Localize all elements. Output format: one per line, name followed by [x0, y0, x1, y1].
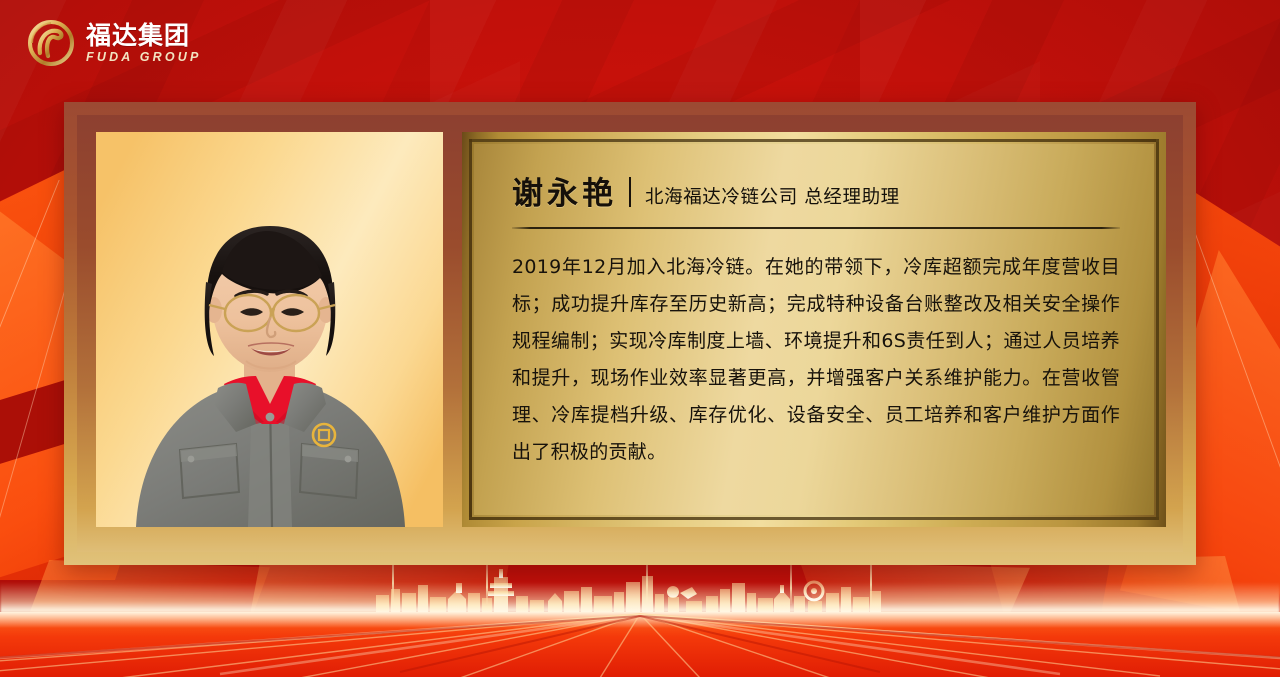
bio-card-body: 谢永艳 北海福达冷链公司 总经理助理 2019年12月加入北海冷链。在她的带领下… — [474, 144, 1154, 515]
brand-logo: 福达集团 FUDA GROUP — [26, 18, 202, 68]
person-name: 谢永艳 — [512, 177, 617, 211]
brand-name-en: FUDA GROUP — [86, 51, 202, 64]
person-bio: 2019年12月加入北海冷链。在她的带领下，冷库超额完成年度营收目标；成功提升库… — [512, 249, 1120, 471]
avatar — [96, 132, 443, 527]
person-header: 谢永艳 北海福达冷链公司 总经理助理 — [512, 174, 1120, 211]
header-divider — [512, 227, 1120, 229]
brand-logo-text: 福达集团 FUDA GROUP — [86, 23, 202, 64]
perspective-road — [0, 612, 1280, 677]
profile-frame: 谢永艳 北海福达冷链公司 总经理助理 2019年12月加入北海冷链。在她的带领下… — [64, 102, 1196, 565]
name-separator — [629, 177, 631, 207]
bio-card-border: 谢永艳 北海福达冷链公司 总经理助理 2019年12月加入北海冷链。在她的带领下… — [469, 139, 1159, 520]
brand-name-cn: 福达集团 — [86, 23, 202, 48]
city-skyline-icon — [370, 563, 890, 615]
poster-stage: 福达集团 FUDA GROUP — [0, 0, 1280, 677]
bio-card: 谢永艳 北海福达冷链公司 总经理助理 2019年12月加入北海冷链。在她的带领下… — [462, 132, 1166, 527]
fuda-circle-f-logo-icon — [26, 18, 76, 68]
profile-frame-inner: 谢永艳 北海福达冷链公司 总经理助理 2019年12月加入北海冷链。在她的带领下… — [77, 115, 1183, 552]
person-role: 北海福达冷链公司 总经理助理 — [645, 183, 900, 209]
